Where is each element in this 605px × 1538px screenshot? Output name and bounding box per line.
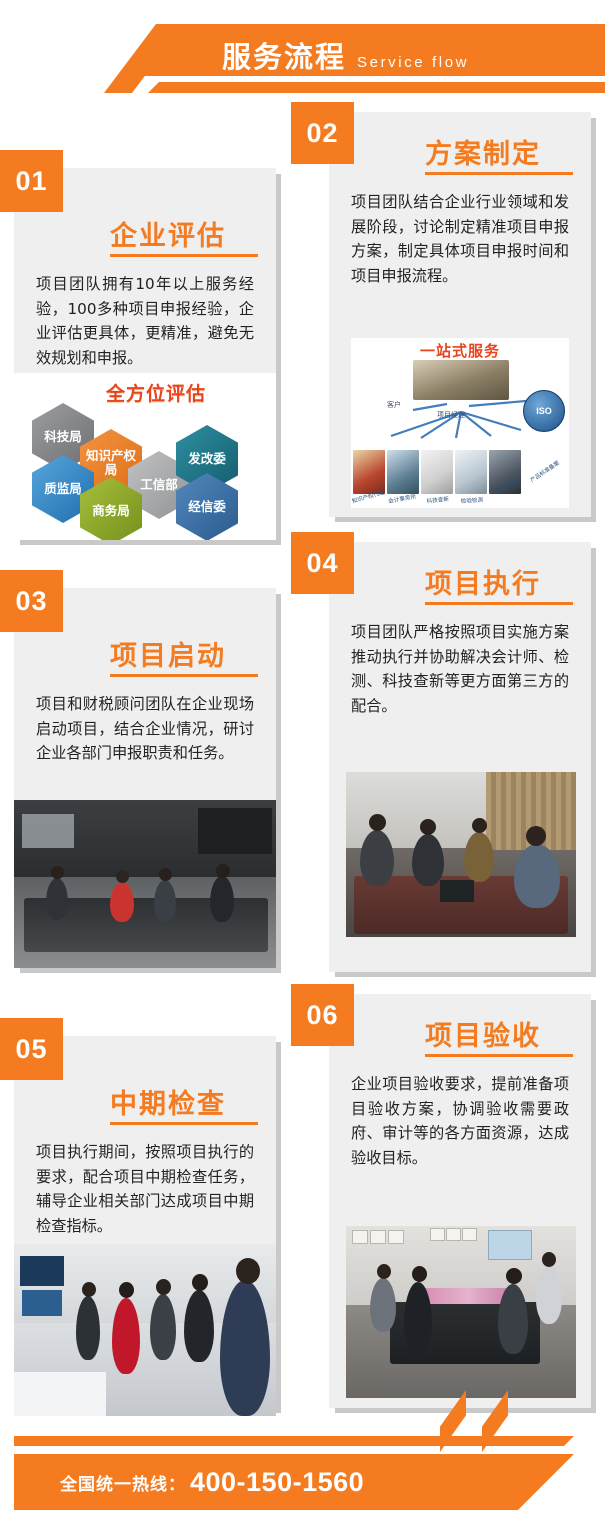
photo-large-meeting-room: [346, 1226, 576, 1398]
step-card-01: 01 企业评估 项目团队拥有10年以上服务经验，100多种项目申报经验，企业评估…: [14, 168, 276, 540]
step-description: 项目和财税顾问团队在企业现场启动项目，结合企业情况，研讨企业各部门申报职责和任务…: [36, 692, 254, 766]
step-number-badge: 04: [291, 532, 354, 594]
step-description: 项目团队严格按照项目实施方案推动执行并协助解决会计师、检测、科技查新等更方面第三…: [351, 620, 569, 719]
page-title: 服务流程: [222, 34, 346, 76]
service-thumb-1: [353, 450, 385, 494]
footer-hotline-group: 全国统一热线： 400-150-1560: [60, 1454, 364, 1510]
hotline-label: 全国统一热线：: [60, 1470, 186, 1495]
step-card-05: 05 中期检查 项目执行期间，按照项目执行的要求，配合项目中期检查任务，辅导企业…: [14, 1036, 276, 1408]
hexagon-node-label: 工信部: [140, 478, 178, 492]
header-title-group: 服务流程 Service flow: [222, 34, 469, 74]
step-number-badge: 02: [291, 102, 354, 164]
hotline-number[interactable]: 400-150-1560: [190, 1467, 364, 1498]
hexagon-node-label: 质监局: [44, 482, 82, 496]
service-thumb-3: [421, 450, 453, 494]
title-underline: [110, 254, 258, 257]
service-thumb-4: [455, 450, 487, 494]
step-card-02: 02 方案制定 项目团队结合企业行业领域和发展阶段，讨论制定精准项目申报方案，制…: [329, 112, 591, 517]
footer-stripe: [14, 1436, 574, 1446]
step-description: 企业项目验收要求，提前准备项目验收方案，协调验收需要政府、审计等的各方面资源，达…: [351, 1072, 569, 1171]
step-description: 项目团队拥有10年以上服务经验，100多种项目申报经验，企业评估更具体，更精准，…: [36, 272, 254, 371]
step-card-04: 04 项目执行 项目团队严格按照项目实施方案推动执行并协助解决会计师、检测、科技…: [329, 542, 591, 972]
hexagon-node-label: 商务局: [92, 504, 130, 518]
step-description: 项目执行期间，按照项目执行的要求，配合项目中期检查任务，辅导企业相关部门达成项目…: [36, 1140, 254, 1239]
service-thumb-2: [387, 450, 419, 494]
step-number-badge: 05: [0, 1018, 63, 1080]
page-footer: 全国统一热线： 400-150-1560: [0, 1430, 605, 1538]
photo-conference-room-meeting: [14, 800, 276, 968]
title-underline: [425, 1054, 573, 1057]
step-title: 企业评估: [110, 214, 226, 253]
photo-group-standing-lobby: [14, 1244, 276, 1416]
step-title: 项目验收: [425, 1014, 541, 1053]
title-underline: [110, 674, 258, 677]
step-card-06: 06 项目验收 企业项目验收要求，提前准备项目验收方案，协调验收需要政府、审计等…: [329, 994, 591, 1408]
one-stop-service-diagram: 一站式服务 客户 项目经理 ISO 知识产权代理: [351, 338, 569, 508]
infographic-page: 服务流程 Service flow 01 企业评估 项目团队拥有10年以上服务经…: [0, 0, 605, 1538]
hexagon-node-label: 发改委: [188, 452, 226, 466]
service-label-manager: 项目经理: [437, 410, 465, 420]
hexagon-node-label: 经信委: [188, 500, 226, 514]
title-underline: [425, 602, 573, 605]
page-subtitle: Service flow: [357, 54, 469, 71]
service-label-customer: 客户: [387, 400, 401, 410]
step-title: 项目执行: [425, 562, 541, 601]
hexagon-evaluation-diagram: 全方位评估 科技局 知识产权局 质监局 工信部 商务局 发改委 经信委: [14, 373, 276, 540]
hexagon-diagram-title: 全方位评估: [106, 379, 206, 406]
step-title: 项目启动: [110, 634, 226, 673]
header-band-stripe: [148, 82, 605, 93]
service-footer-label: 检验检测: [460, 495, 483, 505]
title-underline: [110, 1122, 258, 1125]
photo-team-working-at-table: [346, 772, 576, 937]
step-title: 方案制定: [425, 132, 541, 171]
step-card-03: 03 项目启动 项目和财税顾问团队在企业现场启动项目，结合企业情况，研讨企业各部…: [14, 588, 276, 968]
step-number-badge: 01: [0, 150, 63, 212]
iso-badge-text: ISO: [524, 391, 564, 431]
hexagon-node-label: 科技局: [44, 430, 82, 444]
step-number-badge: 06: [291, 984, 354, 1046]
step-description: 项目团队结合企业行业领域和发展阶段，讨论制定精准项目申报方案，制定具体项目申报时…: [351, 190, 569, 289]
step-title: 中期检查: [110, 1082, 226, 1121]
step-number-badge: 03: [0, 570, 63, 632]
iso-badge-icon: ISO: [523, 390, 565, 432]
title-underline: [425, 172, 573, 175]
